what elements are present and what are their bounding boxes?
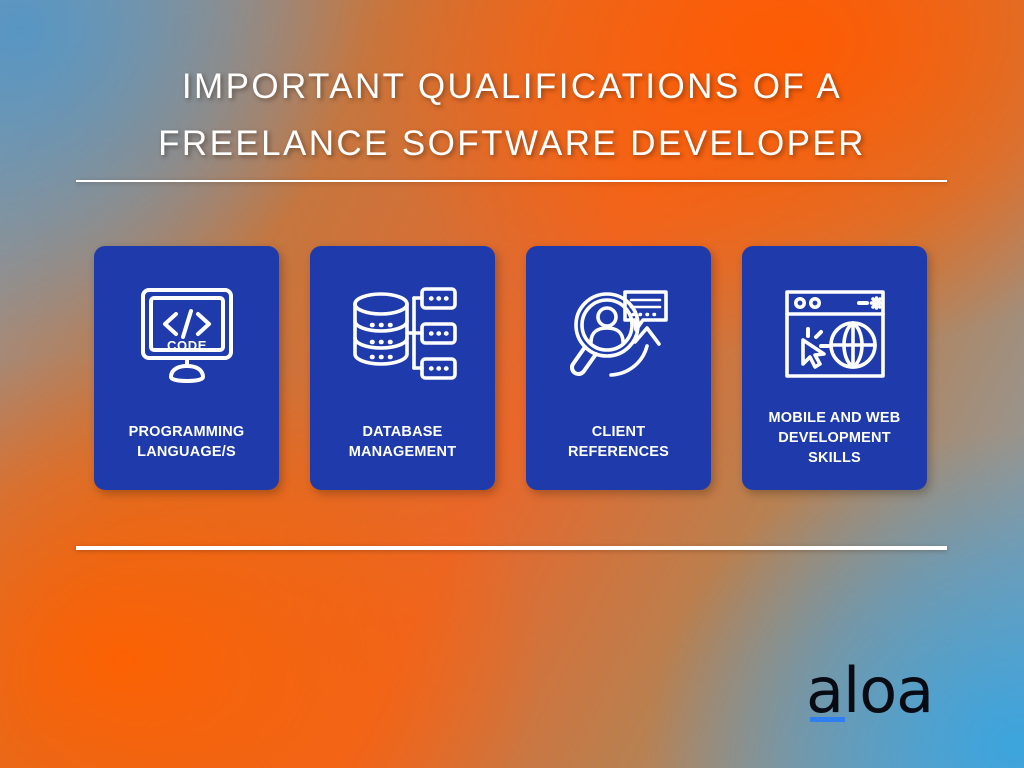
card-client-references[interactable]: CLIENT REFERENCES [526,246,711,490]
title-line-1: IMPORTANT QUALIFICATIONS OF A [0,58,1024,115]
card-mobile-web-development[interactable]: MOBILE AND WEB DEVELOPMENT SKILLS [742,246,927,490]
database-servers-icon [348,282,458,386]
aloa-logo: aloa [800,660,950,730]
code-monitor-icon: CODE [135,282,239,386]
title-line-2: FREELANCE SOFTWARE DEVELOPER [0,115,1024,172]
divider-top [76,180,947,182]
card-programming-languages[interactable]: CODE PROGRAMMING LANGUAGE/S [94,246,279,490]
slide-canvas: IMPORTANT QUALIFICATIONS OF A FREELANCE … [0,0,1024,768]
logo-wordmark: aloa [806,660,933,722]
card-database-management[interactable]: DATABASE MANAGEMENT [310,246,495,490]
card-label-mobile-web-development: MOBILE AND WEB DEVELOPMENT SKILLS [748,408,921,468]
browser-globe-cursor-icon [781,282,889,386]
svg-text:CODE: CODE [167,338,207,353]
card-label-client-references: CLIENT REFERENCES [532,422,705,462]
logo-underline-accent [810,717,845,722]
divider-bottom [76,546,947,550]
page-title: IMPORTANT QUALIFICATIONS OF A FREELANCE … [0,58,1024,172]
magnifier-person-feedback-icon [567,282,671,386]
qualification-card-row: CODE PROGRAMMING LANGUAGE/S [94,246,936,490]
card-label-programming-languages: PROGRAMMING LANGUAGE/S [100,422,273,462]
card-label-database-management: DATABASE MANAGEMENT [316,422,489,462]
